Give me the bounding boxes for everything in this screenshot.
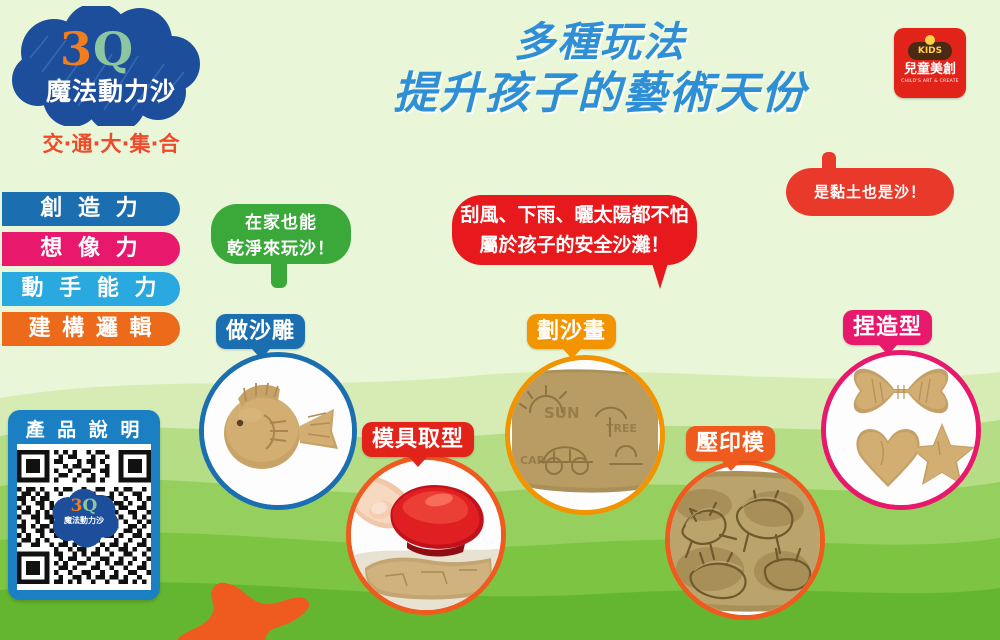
brand-mark-icon: KIDS [908,42,952,60]
photo-label-sand-sculpture: 做沙雕 [216,314,305,349]
label-tail [252,349,270,359]
photo-label-stamp-imprints: 壓印模 [686,426,775,461]
bubble-tail [271,260,287,288]
bubble-clean-line-2: 乾淨來玩沙！ [211,236,351,262]
photo-label-mold-shaping: 模具取型 [362,422,474,457]
skill-pill-creativity[interactable]: 創 造 力 [2,192,180,226]
bubble-tail [650,257,670,289]
skill-pill-logic[interactable]: 建 構 邏 輯 [2,312,180,346]
brand-logo: 3Q 魔法動力沙 交·通·大·集·合 [8,6,208,171]
qr-logo-letter-q: Q [83,496,98,516]
photo-sand-sculpture[interactable] [199,352,357,510]
photo-label-sand-shapes: 捏造型 [843,310,932,345]
qr-logo-digit-3: 3 [71,496,83,516]
qr-logo-name: 魔法動力沙 [52,515,116,526]
product-info-card[interactable]: 產 品 說 明 [8,410,160,600]
headline-line-1: 多種玩法 [514,18,686,66]
sand-drawing-icon: SUN TREE CAR [510,360,660,510]
logo-3q-mark: 3Q [60,22,170,76]
sand-text-tree: TREE [606,422,637,435]
brand-badge: KIDS 兒童美創 CHILD'S ART & CREATE [894,28,966,98]
logo-digit-3: 3 [60,22,93,76]
brand-name-cn: 兒童美創 [904,63,956,77]
brand-name-en: CHILD'S ART & CREATE [901,79,959,84]
red-mold-hand-icon [351,460,501,610]
bubble-clay-line-1: 是黏土也是沙！ [786,168,954,216]
brand-mark-label: KIDS [918,46,942,56]
poster-root: 3Q 魔法動力沙 交·通·大·集·合 多種玩法 提升孩子的藝術天份 KIDS 兒… [0,0,1000,640]
sand-text-car: CAR [520,454,546,467]
sand-text-sun: SUN [544,404,580,422]
photo-label-text: 劃沙畫 [537,319,606,344]
photo-label-text: 模具取型 [372,427,464,452]
logo-letter-q: Q [93,22,134,76]
photo-mold-shaping[interactable] [346,455,506,615]
logo-subtitle: 交·通·大·集·合 [18,128,204,158]
bubble-clean-line-1: 在家也能 [211,210,351,236]
speech-bubble-clean: 在家也能 乾淨來玩沙！ [211,204,351,264]
dinosaur-imprint-icon [670,465,820,615]
photo-label-text: 壓印模 [696,431,765,456]
photo-stamp-imprints[interactable] [665,460,825,620]
photo-label-sand-drawing: 劃沙畫 [527,314,616,349]
photo-label-text: 做沙雕 [226,319,295,344]
page-title: 多種玩法 提升孩子的藝術天份 [360,16,840,120]
headline-line-2: 提升孩子的藝術天份 [360,68,840,120]
photo-sand-shapes[interactable] [821,350,981,510]
sun-icon [925,35,935,45]
label-tail [722,461,740,471]
label-tail [563,349,581,359]
label-tail [879,345,897,355]
logo-product-name: 魔法動力沙 [18,72,204,108]
bubble-safe-line-2: 屬於孩子的安全沙灘！ [452,230,697,260]
product-info-title: 產 品 說 明 [8,415,160,442]
skill-pill-dexterity[interactable]: 動 手 能 力 [2,272,180,306]
photo-label-text: 捏造型 [853,315,922,340]
sand-shapes-icon [826,355,976,505]
sand-fish-icon [204,357,352,505]
label-tail [409,457,427,467]
photo-sand-drawing[interactable]: SUN TREE CAR [505,355,665,515]
qr-center-logo: 3Q 魔法動力沙 [52,498,116,536]
speech-bubble-clay: 是黏土也是沙！ [786,168,954,216]
bubble-safe-line-1: 刮風、下雨、曬太陽都不怕 [452,200,697,230]
skill-pill-imagination[interactable]: 想 像 力 [2,232,180,266]
speech-bubble-safe: 刮風、下雨、曬太陽都不怕 屬於孩子的安全沙灘！ [452,195,697,265]
